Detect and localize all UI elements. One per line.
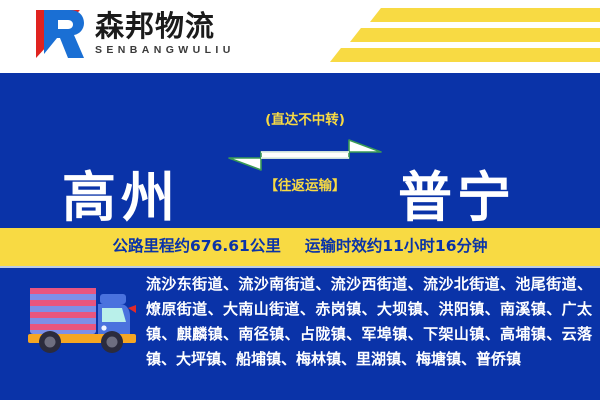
route-banner: 高州 (直达不中转) 【往返运输】 普宁 [0,76,600,228]
stripe-2 [350,28,600,42]
stripe-3 [330,48,600,62]
destination-city: 普宁 [398,171,516,225]
coverage-section: 流沙东街道、流沙南街道、流沙西街道、流沙北街道、池尾街道、燎原街道、大南山街道、… [0,268,600,400]
coverage-districts-text: 流沙东街道、流沙南街道、流沙西街道、流沙北街道、池尾街道、燎原街道、大南山街道、… [146,272,592,372]
stripe-1 [370,8,600,22]
senbang-r-logo-icon [30,8,86,60]
bidirectional-arrow-icon [227,138,383,172]
roundtrip-note: 【往返运输】 [225,180,385,194]
header-stripe-decoration [270,0,600,73]
brand-name-en: SENBANGWULIU [95,45,235,56]
distance-value: 公路里程约676.61公里 [113,239,281,255]
page-header: 森邦物流 SENBANGWULIU [0,0,600,73]
origin-city: 高州 [62,171,180,225]
brand-name-cn: 森邦物流 [95,12,235,41]
delivery-truck-icon [24,284,142,358]
duration-value: 运输时效约11小时16分钟 [305,239,488,255]
route-info-bar: 公路里程约676.61公里 运输时效约11小时16分钟 [0,228,600,266]
route-middle: (直达不中转) 【往返运输】 [225,114,385,193]
direct-service-note: (直达不中转) [225,114,385,128]
brand-logo[interactable]: 森邦物流 SENBANGWULIU [30,8,235,60]
